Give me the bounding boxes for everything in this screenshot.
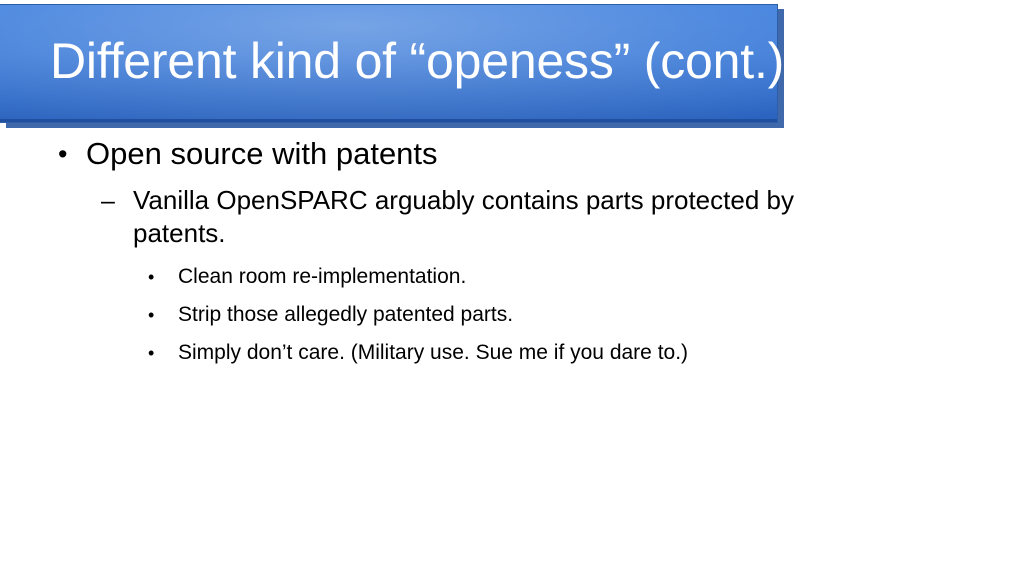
presentation-slide: Different kind of “openess” (cont.) • Op… xyxy=(0,0,1024,576)
slide-title: Different kind of “openess” (cont.) xyxy=(0,35,784,92)
slide-body: • Open source with patents – Vanilla Ope… xyxy=(0,134,1024,376)
bullet-group-level3: • Clean room re-implementation. • Strip … xyxy=(0,262,1024,368)
bullet-marker-icon: • xyxy=(148,262,178,292)
bullet-marker-icon: • xyxy=(58,134,86,174)
bullet-text: Vanilla OpenSPARC arguably contains part… xyxy=(133,184,889,250)
bullet-text: Simply don’t care. (Military use. Sue me… xyxy=(178,338,898,368)
bullet-text: Strip those allegedly patented parts. xyxy=(178,300,898,330)
bullet-marker-icon: • xyxy=(148,338,178,368)
bullet-text: Clean room re-implementation. xyxy=(178,262,898,292)
bullet-item-level3: • Simply don’t care. (Military use. Sue … xyxy=(0,338,1024,368)
dash-marker-icon: – xyxy=(101,184,133,218)
bullet-item-level3: • Clean room re-implementation. xyxy=(0,262,1024,292)
bullet-marker-icon: • xyxy=(148,300,178,330)
bullet-item-level3: • Strip those allegedly patented parts. xyxy=(0,300,1024,330)
bullet-item-level2: – Vanilla OpenSPARC arguably contains pa… xyxy=(0,184,1024,250)
title-banner-fill: Different kind of “openess” (cont.) xyxy=(0,4,778,123)
bullet-item-level1: • Open source with patents xyxy=(0,134,1024,174)
slide-title-banner: Different kind of “openess” (cont.) xyxy=(0,4,784,128)
bullet-text: Open source with patents xyxy=(86,134,946,174)
